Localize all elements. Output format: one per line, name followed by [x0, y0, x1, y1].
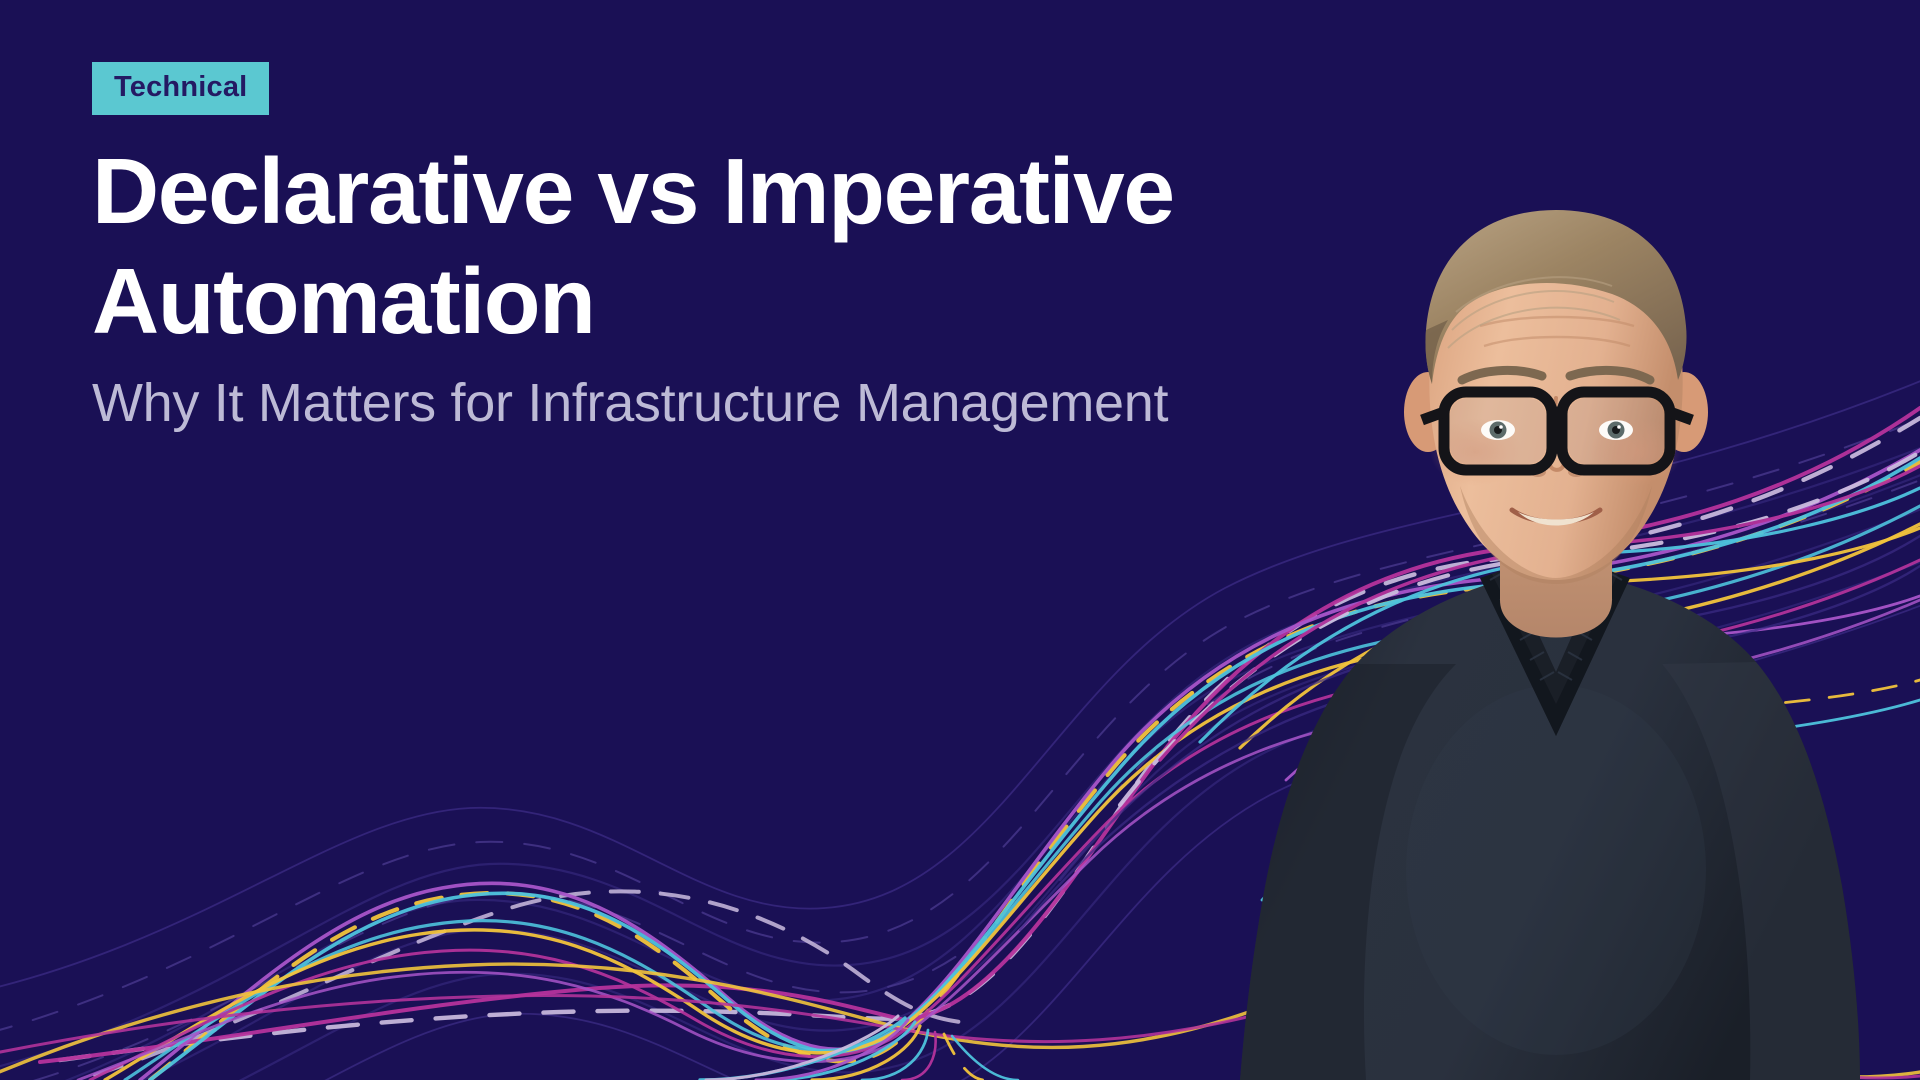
- hero-text-block: Technical Declarative vs Imperative Auto…: [92, 62, 1342, 439]
- ears: [1404, 372, 1708, 452]
- neck: [1500, 480, 1612, 638]
- eyes: [1481, 420, 1633, 440]
- head: [1429, 224, 1682, 584]
- glasses: [1422, 392, 1692, 470]
- category-badge: Technical: [92, 62, 269, 115]
- hair: [1425, 210, 1686, 384]
- sweater: [1240, 568, 1860, 1080]
- page-subtitle: Why It Matters for Infrastructure Manage…: [92, 368, 1212, 438]
- article-hero-banner: Technical Declarative vs Imperative Auto…: [0, 0, 1920, 1080]
- page-title: Declarative vs Imperative Automation: [92, 137, 1332, 356]
- glasses-lenses: [1450, 398, 1664, 464]
